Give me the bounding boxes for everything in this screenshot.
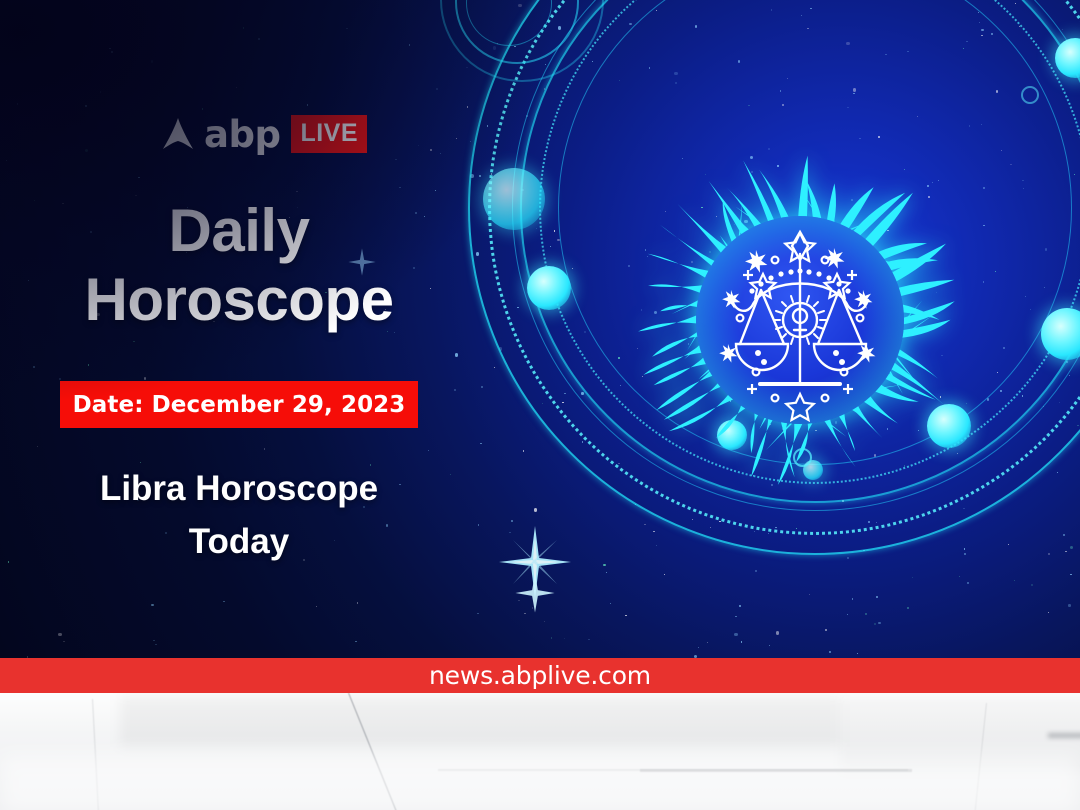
- subtitle: Libra Horoscope Today: [0, 463, 478, 568]
- headline-line-2: Horoscope: [0, 265, 478, 334]
- orbit-orb: [527, 266, 571, 310]
- site-url-text: news.abplive.com: [429, 661, 651, 690]
- abp-arrow-icon: [163, 118, 193, 151]
- blurred-line: [1048, 733, 1080, 738]
- live-badge: LIVE: [291, 115, 367, 153]
- ring-marker-icon: [1021, 86, 1039, 104]
- orbit-orb: [483, 168, 545, 230]
- libra-zodiac-emblem: [628, 148, 972, 492]
- blurred-block: [120, 695, 840, 747]
- date-badge-text: Date: December 29, 2023: [73, 392, 406, 418]
- horoscope-graphic: abp LIVE Daily Horoscope Date: December …: [0, 0, 1080, 810]
- page-title: Daily Horoscope: [0, 196, 478, 334]
- subtitle-line-1: Libra Horoscope: [0, 463, 478, 516]
- banner-background: abp LIVE Daily Horoscope Date: December …: [0, 0, 1080, 658]
- subtitle-line-2: Today: [0, 516, 478, 569]
- page-below-fold: [0, 693, 1080, 810]
- blurred-highlight: [0, 755, 1080, 810]
- site-url-bar: news.abplive.com: [0, 658, 1080, 693]
- date-badge: Date: December 29, 2023: [60, 381, 418, 428]
- abp-live-logo[interactable]: abp LIVE: [163, 115, 367, 153]
- abp-wordmark: abp: [204, 116, 280, 153]
- headline-line-1: Daily: [0, 196, 478, 265]
